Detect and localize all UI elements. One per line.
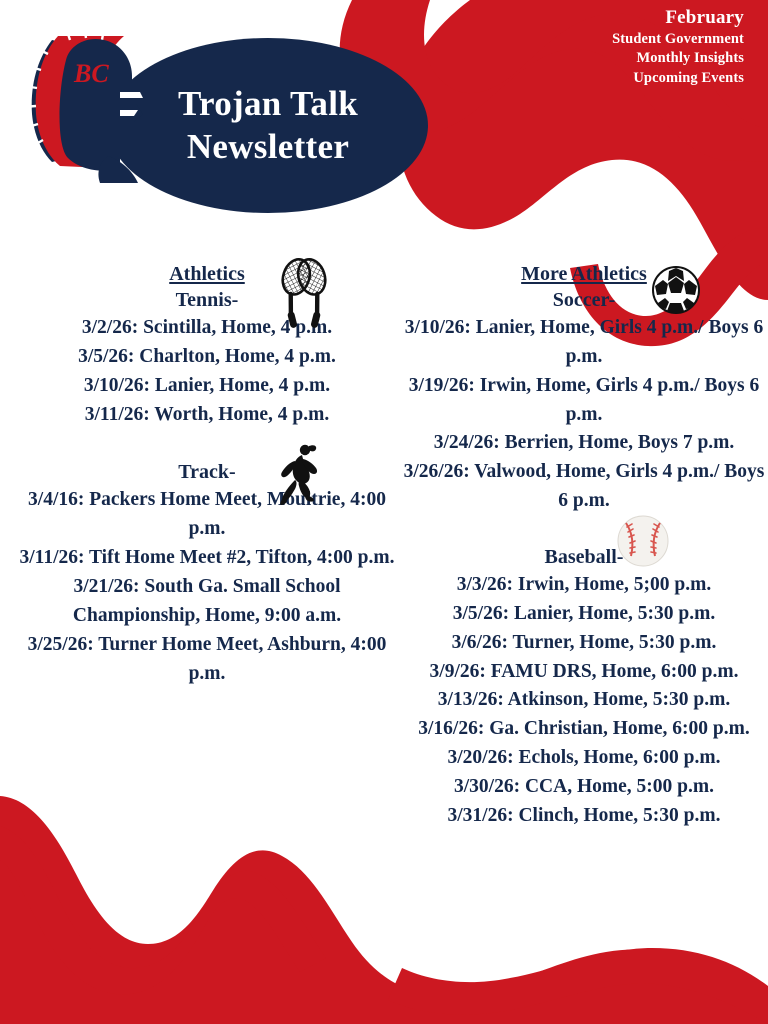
subheading-soccer: Soccer- xyxy=(400,287,768,313)
list-item: 3/11/26: Tift Home Meet #2, Tifton, 4:00… xyxy=(14,544,400,573)
runner-icon xyxy=(272,443,324,505)
list-item: 3/30/26: CCA, Home, 5:00 p.m. xyxy=(400,773,768,802)
newsletter-header: BC Trojan Talk Newsletter February Stude… xyxy=(0,0,768,240)
list-item: 3/24/26: Berrien, Home, Boys 7 p.m. xyxy=(400,429,768,458)
list-item: 3/20/26: Echols, Home, 6:00 p.m. xyxy=(400,744,768,773)
list-item: 3/11/26: Worth, Home, 4 p.m. xyxy=(14,401,400,430)
newsletter-title-badge: Trojan Talk Newsletter xyxy=(108,38,428,213)
subheading-baseball: Baseball- xyxy=(400,544,768,570)
tennis-event-list: 3/2/26: Scintilla, Home, 4 p.m. 3/5/26: … xyxy=(14,314,400,429)
masthead-line-2: Monthly Insights xyxy=(444,49,744,69)
masthead-month: February xyxy=(444,6,744,30)
soccer-ball-icon xyxy=(650,264,702,316)
masthead-line-1: Student Government xyxy=(444,30,744,50)
list-item: 3/5/26: Charlton, Home, 4 p.m. xyxy=(14,343,400,372)
column-left-athletics: Athletics Tennis- 3/2/26: Scintilla, Hom… xyxy=(0,262,400,831)
newsletter-page: BC Trojan Talk Newsletter February Stude… xyxy=(0,0,768,1024)
list-item: 3/26/26: Valwood, Home, Girls 4 p.m./ Bo… xyxy=(400,458,768,516)
baseball-icon xyxy=(612,510,674,572)
list-item: 3/4/16: Packers Home Meet, Moultrie, 4:0… xyxy=(14,486,400,544)
section-soccer: More Athletics Soccer- 3/10/26: Lanier, … xyxy=(400,262,768,516)
logo-monogram: BC xyxy=(73,59,109,88)
section-baseball: Baseball- 3/3/26: Irwin, Home, 5;00 p.m.… xyxy=(400,544,768,831)
heading-more-athletics: More Athletics xyxy=(400,262,768,287)
trojan-helmet-logo: BC xyxy=(8,18,143,183)
list-item: 3/13/26: Atkinson, Home, 5:30 p.m. xyxy=(400,686,768,715)
list-item: 3/2/26: Scintilla, Home, 4 p.m. xyxy=(14,314,400,343)
list-item: 3/6/26: Turner, Home, 5:30 p.m. xyxy=(400,629,768,658)
column-right-more-athletics: More Athletics Soccer- 3/10/26: Lanier, … xyxy=(400,262,768,831)
title-line-2: Newsletter xyxy=(187,126,349,169)
newsletter-content: Athletics Tennis- 3/2/26: Scintilla, Hom… xyxy=(0,262,768,831)
list-item: 3/31/26: Clinch, Home, 5:30 p.m. xyxy=(400,802,768,831)
section-tennis: Athletics Tennis- 3/2/26: Scintilla, Hom… xyxy=(14,262,400,429)
list-item: 3/5/26: Lanier, Home, 5:30 p.m. xyxy=(400,600,768,629)
list-item: 3/19/26: Irwin, Home, Girls 4 p.m./ Boys… xyxy=(400,372,768,430)
heading-athletics: Athletics xyxy=(14,262,400,287)
list-item: 3/25/26: Turner Home Meet, Ashburn, 4:00… xyxy=(14,631,400,689)
list-item: 3/10/26: Lanier, Home, Girls 4 p.m./ Boy… xyxy=(400,314,768,372)
subheading-track: Track- xyxy=(14,459,400,485)
list-item: 3/9/26: FAMU DRS, Home, 6:00 p.m. xyxy=(400,658,768,687)
list-item: 3/10/26: Lanier, Home, 4 p.m. xyxy=(14,372,400,401)
masthead-text-block: February Student Government Monthly Insi… xyxy=(444,6,744,88)
section-track: Track- 3/4/16: Packers Home Meet, Moultr… xyxy=(14,459,400,688)
title-line-1: Trojan Talk xyxy=(178,83,358,126)
tennis-rackets-icon xyxy=(266,256,342,328)
baseball-event-list: 3/3/26: Irwin, Home, 5;00 p.m. 3/5/26: L… xyxy=(400,571,768,831)
track-event-list: 3/4/16: Packers Home Meet, Moultrie, 4:0… xyxy=(14,486,400,688)
list-item: 3/21/26: South Ga. Small School Champion… xyxy=(14,573,400,631)
subheading-tennis: Tennis- xyxy=(14,287,400,313)
list-item: 3/16/26: Ga. Christian, Home, 6:00 p.m. xyxy=(400,715,768,744)
masthead-line-3: Upcoming Events xyxy=(444,69,744,89)
list-item: 3/3/26: Irwin, Home, 5;00 p.m. xyxy=(400,571,768,600)
soccer-event-list: 3/10/26: Lanier, Home, Girls 4 p.m./ Boy… xyxy=(400,314,768,516)
